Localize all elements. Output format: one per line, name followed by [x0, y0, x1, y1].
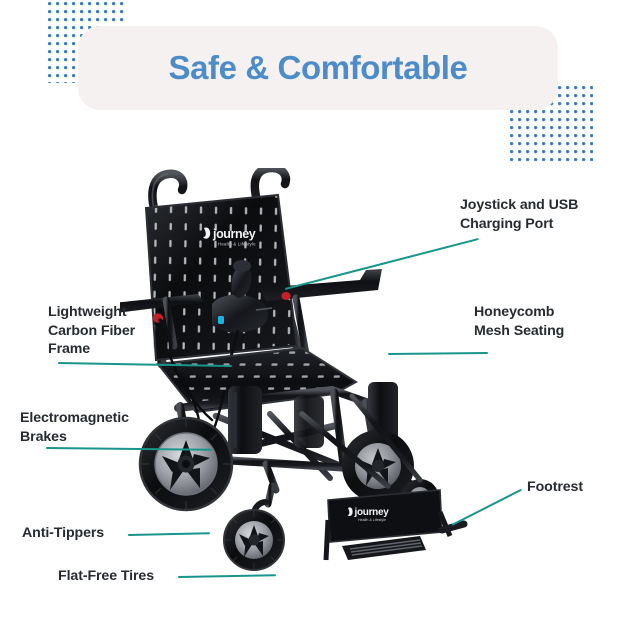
front-caster-wheel [224, 486, 284, 570]
callout-label-joystick-usb: Joystick and USB Charging Port [460, 196, 578, 233]
svg-text:journey: journey [212, 227, 256, 241]
header-section: Safe & Comfortable [0, 0, 630, 165]
svg-text:Health & Lifestyle: Health & Lifestyle [218, 242, 256, 247]
svg-text:Health & Lifestyle: Health & Lifestyle [358, 518, 386, 522]
rear-wheel-left [140, 418, 232, 510]
callout-label-footrest: Footrest [527, 478, 583, 497]
callout-label-flat-free-tires: Flat-Free Tires [58, 567, 154, 586]
battery-pack-left [228, 386, 262, 454]
joystick-led [218, 316, 224, 324]
infographic-canvas: Safe & Comfortable [0, 0, 630, 630]
svg-text:journey: journey [354, 507, 390, 518]
page-title: Safe & Comfortable [78, 26, 558, 110]
callout-label-electromagnetic-brakes: Electromagnetic Brakes [20, 409, 129, 446]
callout-label-anti-tippers: Anti-Tippers [22, 524, 104, 543]
footrest-platform: journey Health & Lifestyle [326, 490, 464, 560]
callout-label-lightweight-frame: Lightweight Carbon Fiber Frame [48, 303, 135, 359]
brake-lever-right [281, 292, 290, 300]
callout-label-honeycomb-mesh: Honeycomb Mesh Seating [474, 303, 564, 340]
